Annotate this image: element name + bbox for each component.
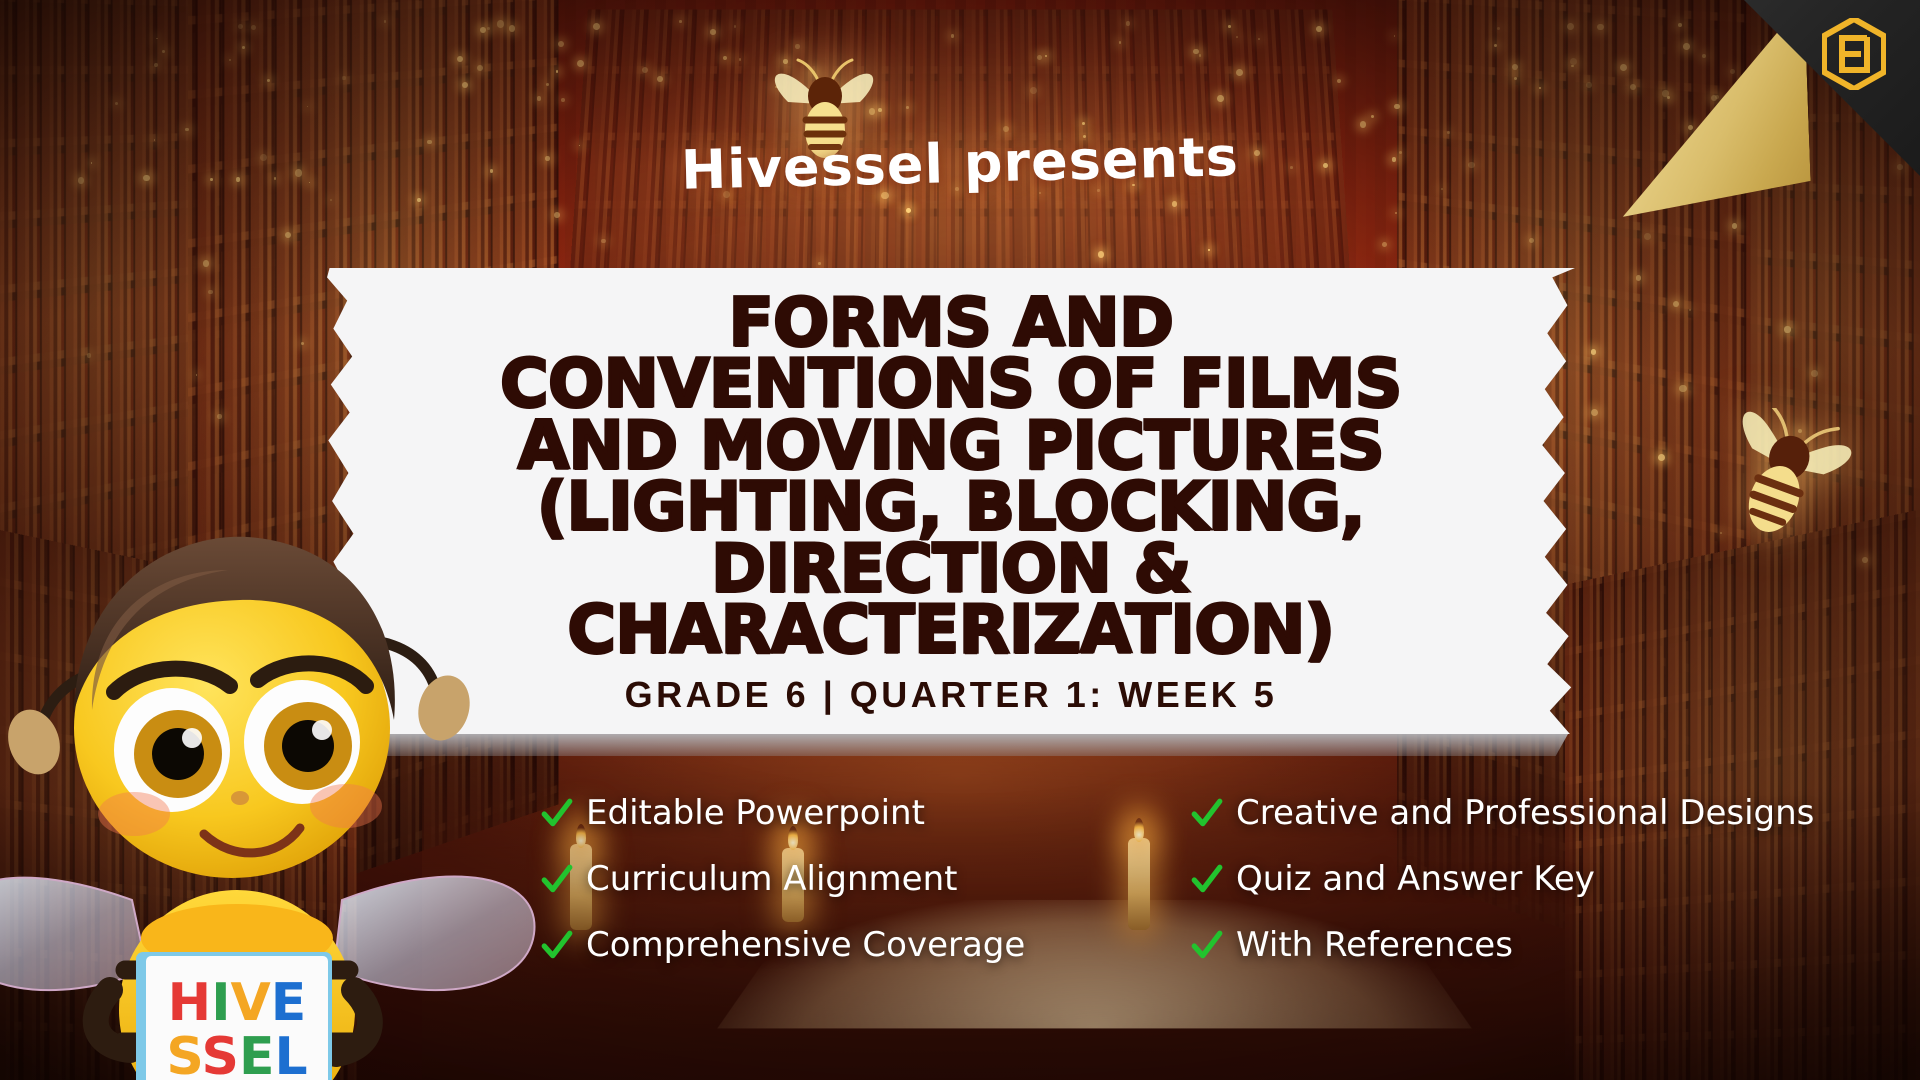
grade-quarter-week-label: GRADE 6 | QUARTER 1: WEEK 5 [625,674,1278,716]
page-title: FORMS AND CONVENTIONS OF FILMS AND MOVIN… [500,292,1402,660]
svg-text:SSEL: SSEL [166,1027,307,1080]
head [74,537,395,878]
feature-label: Creative and Professional Designs [1236,796,1814,830]
feature-label: With References [1236,928,1513,962]
svg-text:HIVE: HIVE [168,973,307,1033]
feature-label: Editable Powerpoint [586,796,925,830]
check-icon [1190,928,1224,962]
feature-label: Quiz and Answer Key [1236,862,1595,896]
check-icon [540,928,574,962]
feature-label: Curriculum Alignment [586,862,957,896]
list-item: Editable Powerpoint [540,782,1160,844]
bee-icon-flying [1690,408,1870,558]
check-icon [540,862,574,896]
check-icon [1190,862,1224,896]
hexagon-logo-icon[interactable] [1822,18,1886,90]
list-item: Comprehensive Coverage [540,914,1160,976]
presents-headline: Hivessel presents [0,132,1920,195]
check-icon [540,796,574,830]
list-item: With References [1190,914,1880,976]
list-item: Quiz and Answer Key [1190,848,1880,910]
mascot-book: HIVE SSEL 35 15 SOLD [136,952,332,1080]
feature-label: Comprehensive Coverage [586,928,1025,962]
list-item: Creative and Professional Designs [1190,782,1880,844]
bee-mascot: HIVE SSEL 35 15 SOLD [0,430,542,1080]
list-item: Curriculum Alignment [540,848,1160,910]
check-icon [1190,796,1224,830]
feature-list: Editable Powerpoint Creative and Profess… [540,782,1880,982]
presents-text: Hivessel presents [680,125,1239,202]
